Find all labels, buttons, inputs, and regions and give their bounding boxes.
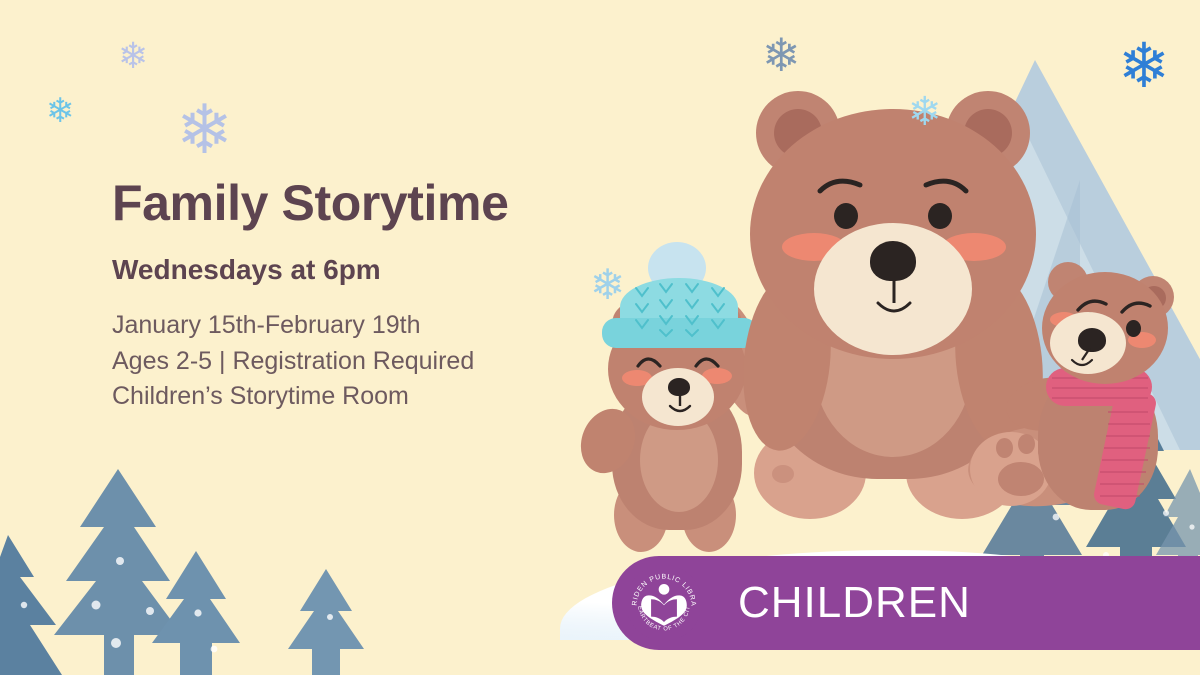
scarf-cub-main-pad: [998, 462, 1044, 496]
mother-left-toes: [772, 465, 794, 483]
mother-nose: [870, 241, 916, 281]
snowflake-5: ❄: [908, 92, 942, 132]
left-pine-trees: [0, 465, 430, 675]
mother-left-eye: [834, 203, 858, 229]
category-label: CHILDREN: [738, 578, 971, 628]
snowflake-1: ❄: [118, 38, 148, 74]
beanie-knit-texture: [620, 282, 740, 338]
snowflake-4: ❄: [762, 32, 801, 78]
snowflake-7: ❄: [1118, 36, 1170, 98]
snowflake-3: ❄: [176, 96, 233, 164]
scarf-cub-toe-2: [1018, 434, 1035, 454]
detail-location: Children’s Storytime Room: [112, 379, 582, 415]
page-title: Family Storytime: [112, 178, 582, 228]
mother-brows: [816, 171, 970, 197]
detail-ages-registration: Ages 2-5 | Registration Required: [112, 344, 582, 380]
scarf-cub-toe-1: [996, 438, 1013, 458]
snowflake-2: ❄: [46, 94, 75, 128]
event-schedule: Wednesdays at 6pm: [112, 256, 582, 284]
category-banner: MERIDEN PUBLIC LIBRARY HEARTBEAT OF THE …: [612, 556, 1200, 650]
mother-right-eye: [928, 203, 952, 229]
scarf-cub-right-eye: [1126, 320, 1141, 337]
mother-mouth: [864, 277, 924, 323]
scarf-cub-mouth: [1068, 348, 1108, 376]
text-block: Family Storytime Wednesdays at 6pm Janua…: [112, 178, 582, 415]
meriden-public-library-logo: MERIDEN PUBLIC LIBRARY HEARTBEAT OF THE …: [626, 565, 702, 641]
winter-scene-illustration: [560, 0, 1200, 640]
cub-with-scarf: [992, 250, 1200, 550]
detail-date-range: January 15th-February 19th: [112, 308, 582, 344]
cub-mouth: [662, 394, 698, 420]
snowflake-6: ❄: [590, 264, 625, 306]
poster-canvas: ❄ ❄ ❄ ❄ ❄ ❄ ❄ Family Storytime Wednesday…: [0, 0, 1200, 675]
scarf-knit-texture: [1046, 368, 1158, 510]
